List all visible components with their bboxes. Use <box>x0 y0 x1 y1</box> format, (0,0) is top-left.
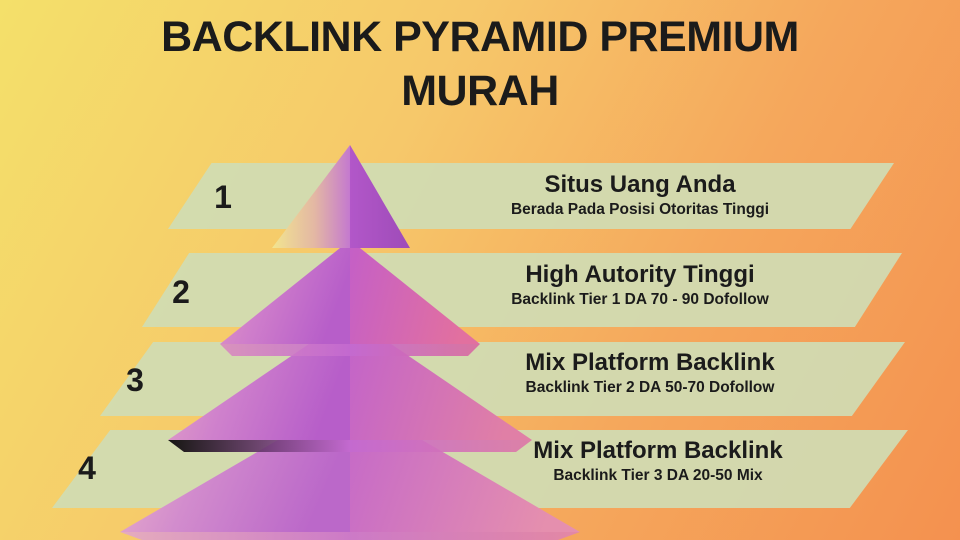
level-subtext-3: Backlink Tier 2 DA 50-70 Dofollow <box>470 377 830 399</box>
level-text-4: Mix Platform Backlink Backlink Tier 3 DA… <box>478 436 838 487</box>
title-line-1: BACKLINK PYRAMID PREMIUM <box>0 10 960 64</box>
level-subtext-4: Backlink Tier 3 DA 20-50 Mix <box>478 465 838 487</box>
level-subtext-1: Berada Pada Posisi Otoritas Tinggi <box>480 199 800 221</box>
level-text-2: High Autority Tinggi Backlink Tier 1 DA … <box>460 260 820 311</box>
level-subtext-2: Backlink Tier 1 DA 70 - 90 Dofollow <box>460 289 820 311</box>
level-heading-3: Mix Platform Backlink <box>470 348 830 377</box>
page-title: BACKLINK PYRAMID PREMIUM MURAH <box>0 10 960 118</box>
pyramid-tier-1 <box>272 145 410 248</box>
level-number-3: 3 <box>112 364 158 396</box>
level-number-4: 4 <box>64 452 110 484</box>
pyramid-tier-2 <box>220 240 480 356</box>
level-text-3: Mix Platform Backlink Backlink Tier 2 DA… <box>470 348 830 399</box>
infographic-canvas: BACKLINK PYRAMID PREMIUM MURAH <box>0 0 960 540</box>
level-heading-2: High Autority Tinggi <box>460 260 820 289</box>
level-number-1: 1 <box>200 181 246 213</box>
level-heading-1: Situs Uang Anda <box>480 170 800 199</box>
level-heading-4: Mix Platform Backlink <box>478 436 838 465</box>
level-number-2: 2 <box>158 276 204 308</box>
title-line-2: MURAH <box>0 64 960 118</box>
level-text-1: Situs Uang Anda Berada Pada Posisi Otori… <box>480 170 800 221</box>
